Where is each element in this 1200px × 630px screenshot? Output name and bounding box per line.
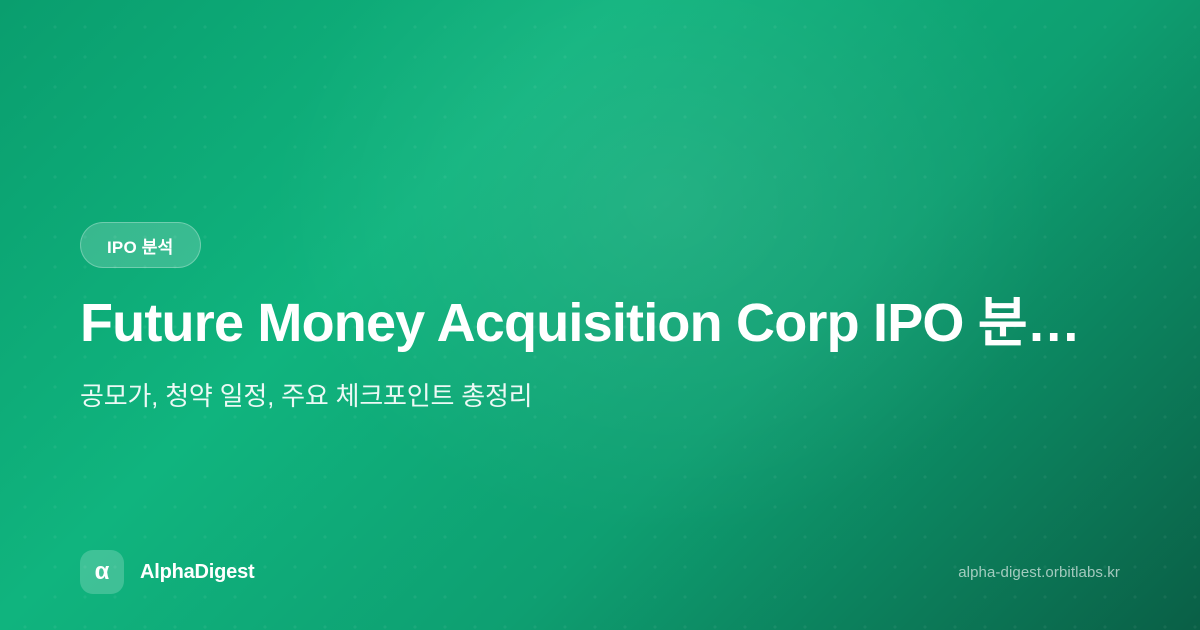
category-badge: IPO 분석 [80, 222, 201, 268]
page-subtitle: 공모가, 청약 일정, 주요 체크포인트 총정리 [80, 378, 1120, 414]
brand-lockup: α AlphaDigest [80, 550, 254, 594]
brand-name: AlphaDigest [140, 561, 254, 584]
page-title: Future Money Acquisition Corp IPO 분… [80, 292, 1120, 355]
site-url: alpha-digest.orbitlabs.kr [958, 564, 1120, 581]
card-footer: α AlphaDigest alpha-digest.orbitlabs.kr [80, 548, 1120, 596]
alpha-logo-icon: α [80, 550, 124, 594]
card-content: IPO 분석 Future Money Acquisition Corp IPO… [80, 0, 1120, 630]
og-share-card: IPO 분석 Future Money Acquisition Corp IPO… [0, 0, 1200, 630]
